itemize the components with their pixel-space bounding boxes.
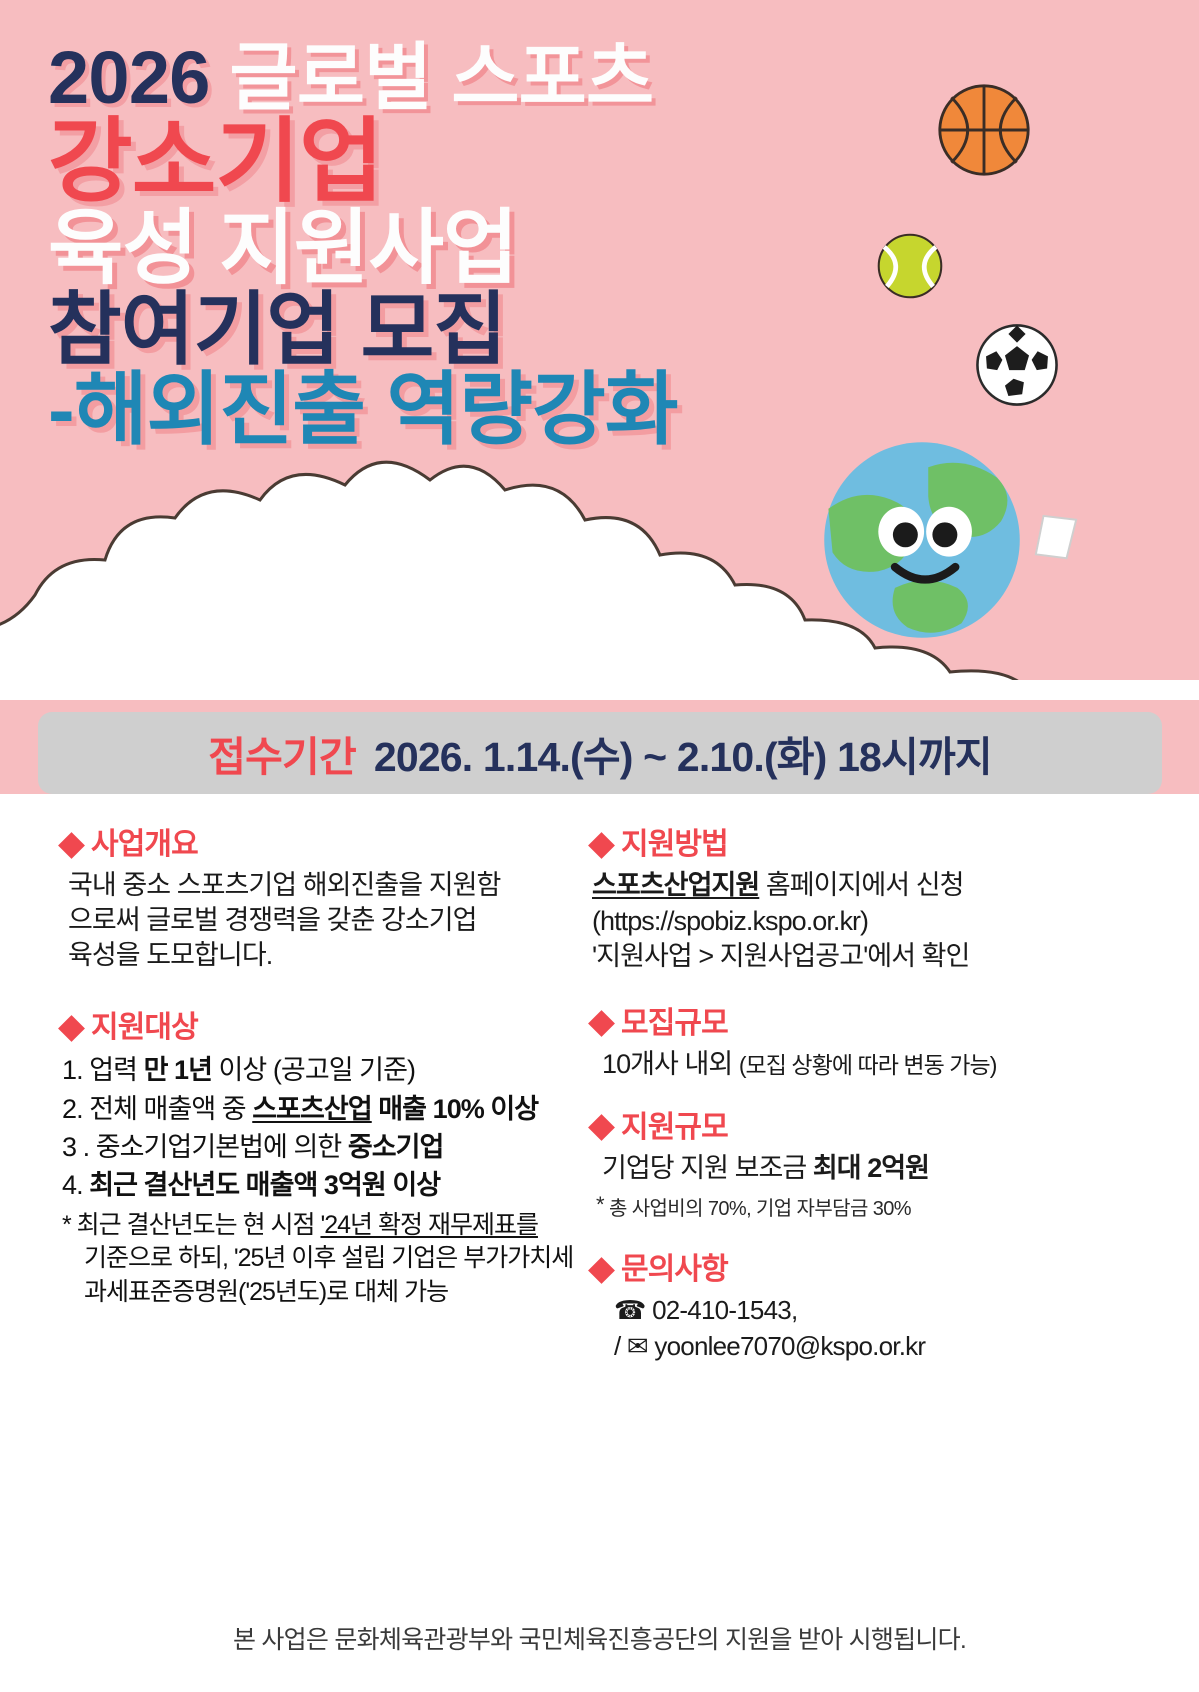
headline-year: 2026 [48, 36, 210, 119]
section-support-scale: 지원규모 기업당 지원 보조금 최대 2억원 * 총 사업비의 70%, 기업 … [592, 1113, 1169, 1222]
eligibility-note: * 최근 결산년도는 현 시점 '24년 확정 재무제표를 기준으로 하되, '… [62, 1209, 582, 1310]
support-scale-pre: 기업당 지원 보조금 [602, 1153, 813, 1183]
how-to-apply-line-3: '지원사업 > 지원사업공고'에서 확인 [592, 939, 1169, 975]
eligibility-heading: 지원대상 [62, 1013, 582, 1043]
overview-body-line-2: 으로써 글로벌 경쟁력을 갖춘 강소기업 [62, 903, 582, 938]
eligibility-list: 1. 업력 만 1년 이상 (공고일 기준) 2. 전체 매출액 중 스포츠산업… [62, 1051, 582, 1204]
envelope-icon: ✉ [627, 1331, 648, 1361]
inquiries-phone-row: ☎ 02-410-1543, [592, 1293, 1169, 1329]
item-number: 3 . [62, 1132, 89, 1162]
inquiries-title: 문의사항 [621, 1255, 728, 1285]
eligibility-title: 지원대상 [91, 1013, 198, 1043]
note-line-1-pre: * 최근 결산년도는 현 시점 [62, 1211, 320, 1239]
how-to-apply-title: 지원방법 [621, 830, 728, 860]
recruit-scale-sub: (모집 상황에 따라 변동 가능) [739, 1052, 997, 1078]
recruit-scale-body: 10개사 내외 (모집 상황에 따라 변동 가능) [592, 1047, 1169, 1083]
recruit-scale-main: 10개사 내외 [602, 1049, 732, 1079]
recruit-scale-title: 모집규모 [621, 1009, 728, 1039]
item-text-bold: 최근 결산년도 매출액 3억원 이상 [89, 1170, 440, 1200]
left-column: 사업개요 국내 중소 스포츠기업 해외진출을 지원함 으로써 글로벌 경쟁력을 … [0, 830, 590, 1391]
globe-character-icon [818, 436, 1026, 644]
item-number: 1. [62, 1055, 83, 1085]
inquiries-phone: 02-410-1543, [652, 1295, 797, 1325]
overview-body-line-3: 육성을 도모합니다. [62, 938, 582, 973]
item-number: 2. [62, 1094, 83, 1124]
list-item: 3 . 중소기업기본법에 의한 중소기업 [62, 1128, 582, 1166]
recruit-scale-heading: 모집규모 [592, 1009, 1169, 1039]
hero-section: 2026 글로벌 스포츠 강소기업 육성 지원사업 참여기업 모집 -해외진출 … [0, 0, 1199, 700]
headline-block: 2026 글로벌 스포츠 강소기업 육성 지원사업 참여기업 모집 -해외진출 … [48, 42, 678, 452]
content-columns: 사업개요 국내 중소 스포츠기업 해외진출을 지원함 으로써 글로벌 경쟁력을 … [0, 830, 1199, 1391]
list-item: 1. 업력 만 1년 이상 (공고일 기준) [62, 1051, 582, 1089]
soccer-ball-icon [974, 322, 1060, 408]
diamond-bullet-icon [58, 832, 85, 859]
overview-title: 사업개요 [91, 830, 198, 860]
headline-line-2: 강소기업 [48, 117, 678, 207]
paper-shape-icon [1032, 512, 1080, 564]
note-line-3: 과세표준증명원('25년도)로 대체 가능 [62, 1276, 582, 1310]
list-item: 2. 전체 매출액 중 스포츠산업 매출 10% 이상 [62, 1090, 582, 1128]
item-text-bold: 중소기업 [348, 1132, 444, 1162]
item-text-pre: 업력 [89, 1055, 143, 1085]
support-scale-note: * 총 사업비의 70%, 기업 자부담금 30% [596, 1192, 1169, 1221]
basketball-icon [936, 82, 1032, 178]
diamond-bullet-icon [588, 832, 615, 859]
headline-line-1-rest: 글로벌 스포츠 [230, 36, 654, 119]
asterisk-icon: * [596, 1192, 604, 1217]
list-item: 4. 최근 결산년도 매출액 3억원 이상 [62, 1166, 582, 1204]
how-to-apply-site-name: 스포츠산업지원 [592, 870, 759, 900]
overview-body-line-1: 국내 중소 스포츠기업 해외진출을 지원함 [62, 868, 582, 903]
item-text-bold: 만 1년 [144, 1055, 212, 1085]
headline-line-3: 육성 지원사업 [48, 209, 678, 289]
note-line-2: 기준으로 하되, '25년 이후 설립 기업은 부가가치세 [62, 1242, 582, 1276]
how-to-apply-line-1-rest: 홈페이지에서 신청 [759, 870, 963, 900]
headline-line-5: -해외진출 역량강화 [48, 371, 678, 449]
diamond-bullet-icon [58, 1015, 85, 1042]
note-line-1-underline: '24년 확정 재무제표를 [320, 1211, 537, 1239]
phone-icon: ☎ [614, 1295, 646, 1325]
support-scale-amount: 최대 2억원 [813, 1153, 929, 1183]
item-text-bold-underline: 스포츠산업 [252, 1094, 371, 1124]
item-text-bold2: 매출 10% 이상 [372, 1094, 538, 1124]
section-how-to-apply: 지원방법 스포츠산업지원 홈페이지에서 신청 (https://spobiz.k… [592, 830, 1169, 975]
support-scale-body: 기업당 지원 보조금 최대 2억원 [592, 1151, 1169, 1187]
item-text-pre: 중소기업기본법에 의한 [96, 1132, 348, 1162]
slash-separator: / [614, 1331, 620, 1361]
how-to-apply-url[interactable]: (https://spobiz.kspo.or.kr) [592, 904, 1169, 940]
item-text-pre: 전체 매출액 중 [89, 1094, 252, 1124]
diamond-bullet-icon [588, 1257, 615, 1284]
inquiries-email-row: / ✉ yoonlee7070@kspo.or.kr [592, 1329, 1169, 1365]
diamond-bullet-icon [588, 1114, 615, 1141]
item-text-post: 이상 (공고일 기준) [212, 1055, 415, 1085]
section-overview: 사업개요 국내 중소 스포츠기업 해외진출을 지원함 으로써 글로벌 경쟁력을 … [62, 830, 582, 973]
item-number: 4. [62, 1170, 83, 1200]
headline-line-1: 2026 글로벌 스포츠 [48, 42, 678, 115]
headline-line-4: 참여기업 모집 [48, 291, 678, 369]
footer-note: 본 사업은 문화체육관광부와 국민체육진흥공단의 지원을 받아 시행됩니다. [0, 1620, 1199, 1656]
section-inquiries: 문의사항 ☎ 02-410-1543, / ✉ yoonlee7070@kspo… [592, 1255, 1169, 1365]
tennis-ball-icon [876, 232, 944, 300]
support-scale-heading: 지원규모 [592, 1113, 1169, 1143]
application-period-banner: 접수기간 2026. 1.14.(수) ~ 2.10.(화) 18시까지 [38, 712, 1162, 794]
section-recruit-scale: 모집규모 10개사 내외 (모집 상황에 따라 변동 가능) [592, 1009, 1169, 1083]
right-column: 지원방법 스포츠산업지원 홈페이지에서 신청 (https://spobiz.k… [590, 830, 1199, 1391]
content-sheet: 사업개요 국내 중소 스포츠기업 해외진출을 지원함 으로써 글로벌 경쟁력을 … [0, 794, 1199, 1692]
inquiries-email[interactable]: yoonlee7070@kspo.or.kr [654, 1331, 925, 1361]
section-eligibility: 지원대상 1. 업력 만 1년 이상 (공고일 기준) 2. 전체 매출액 중 … [62, 1013, 582, 1309]
support-scale-note-text: 총 사업비의 70%, 기업 자부담금 30% [609, 1198, 911, 1220]
how-to-apply-line-1: 스포츠산업지원 홈페이지에서 신청 [592, 868, 1169, 904]
diamond-bullet-icon [588, 1010, 615, 1037]
application-period-value: 2026. 1.14.(수) ~ 2.10.(화) 18시까지 [374, 723, 992, 783]
inquiries-heading: 문의사항 [592, 1255, 1169, 1285]
support-scale-title: 지원규모 [621, 1113, 728, 1143]
how-to-apply-heading: 지원방법 [592, 830, 1169, 860]
application-period-label: 접수기간 [208, 723, 356, 783]
overview-heading: 사업개요 [62, 830, 582, 860]
